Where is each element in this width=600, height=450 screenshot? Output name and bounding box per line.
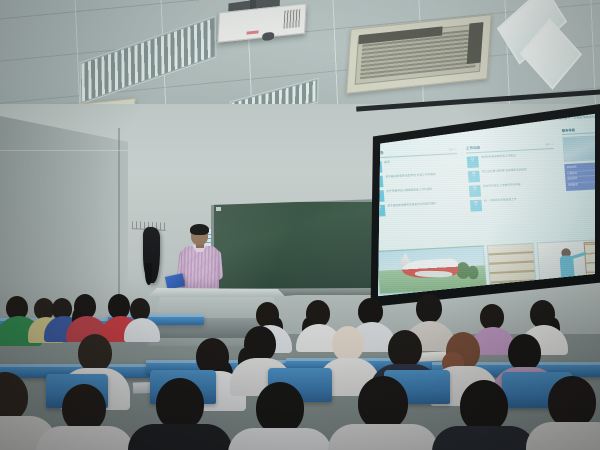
chalkboard-clip [216, 207, 221, 211]
list-item-title[interactable]: 学院召开新学期学生工作会议 [481, 154, 516, 160]
sidebar-service-nav: 服务导航 更多 资助政策 心理咨询 就业指导 学籍管理 [562, 125, 595, 190]
presenter-hair [190, 224, 209, 235]
list-item[interactable]: 05 09 关于做好新学期学生宿舍安全检查的通知 [373, 200, 461, 216]
sidebar-title: 服务导航 [562, 128, 576, 133]
list-item[interactable]: 11 09 学院召开新学期学生工作会议 [467, 152, 555, 168]
column-title: 工作动态 [466, 146, 480, 152]
list-item-title[interactable]: 学工处开展“迎新季”志愿服务活动纪实 [482, 168, 527, 175]
date-badge: 09 09 [468, 170, 480, 182]
news-columns: 通知公告 更多 >> 12 09 置顶 10 09 [369, 142, 559, 220]
list-item[interactable]: 03 09 统一开展新生资格复查工作 [470, 195, 558, 211]
hanging-coat [143, 227, 160, 283]
list-item[interactable]: 06 09 我校举办新生入学教育系列讲座 [469, 181, 557, 197]
wall-seam [0, 150, 128, 151]
column-more-link[interactable]: 更多 >> [449, 149, 457, 152]
list-item[interactable]: 08 09 关于开展学生心理健康普查工作的通知 [372, 186, 460, 202]
list-item-title[interactable]: 关于做好新学期学生宿舍安全检查的通知 [387, 202, 436, 209]
sidebar-photo [562, 134, 595, 162]
classroom-photo: 学生工作处 通知公告 学校主页 http://www.xxxx.edu.cn/i… [0, 0, 600, 450]
date-badge: 11 09 [467, 156, 479, 168]
column-more-link[interactable]: 更多 >> [546, 143, 554, 146]
news-column-notices: 通知公告 更多 >> 12 09 置顶 10 09 [369, 147, 461, 220]
list-item-title[interactable]: 关于做好新学期“奖助学金”评选工作的通知 [385, 172, 436, 179]
date-month: 09 [474, 189, 476, 191]
list-item[interactable]: 09 09 学工处开展“迎新季”志愿服务活动纪实 [468, 166, 556, 182]
list-item[interactable]: 10 09 关于做好新学期“奖助学金”评选工作的通知 [371, 171, 459, 187]
presenter [178, 226, 222, 298]
date-month: 09 [472, 160, 474, 162]
list-item-title[interactable]: 关于开展学生心理健康普查工作的通知 [386, 187, 432, 194]
list-item-title[interactable]: 置顶 [384, 160, 390, 165]
list-item-title[interactable]: 我校举办新生入学教育系列讲座 [483, 183, 521, 190]
list-item[interactable]: 12 09 置顶 [370, 157, 458, 173]
date-month: 09 [473, 175, 475, 177]
presenter-shirt [181, 246, 219, 290]
wall-corner [118, 128, 120, 318]
list-item-title[interactable]: 统一开展新生资格复查工作 [484, 197, 517, 203]
news-column-updates: 工作动态 更多 >> 11 09 学院召开新学期学生工作会议 09 09 [466, 142, 558, 215]
date-month: 09 [475, 204, 477, 206]
date-badge: 06 09 [469, 185, 481, 197]
green-chalkboard [211, 199, 380, 299]
date-badge: 03 09 [470, 199, 482, 211]
sidebar-link-panel[interactable]: 资助政策 心理咨询 就业指导 学籍管理 [564, 161, 595, 191]
seated-students [0, 296, 600, 450]
